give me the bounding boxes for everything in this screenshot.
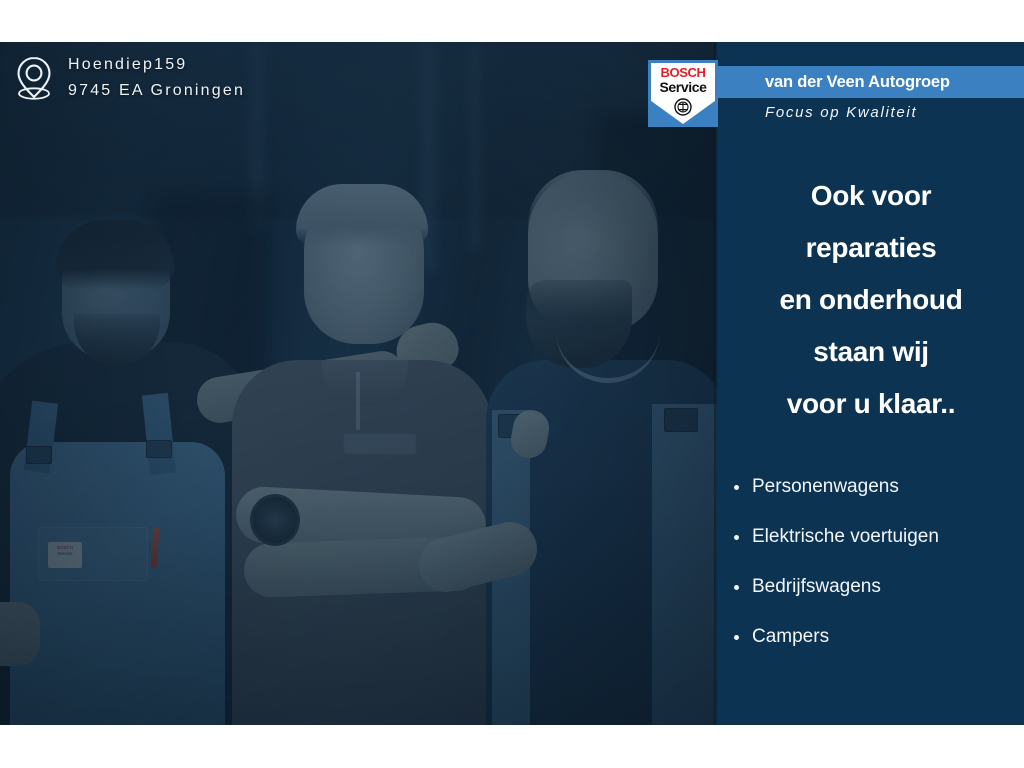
address-city: 9745 EA Groningen	[68, 78, 245, 104]
map-pin-icon	[14, 55, 54, 101]
company-name: van der Veen Autogroep	[765, 73, 950, 92]
headline-line-2: reparaties	[718, 222, 1024, 274]
logo-service-text: Service	[648, 79, 718, 95]
list-item: Personenwagens	[718, 462, 1024, 512]
photo-vignette	[0, 42, 718, 725]
headline: Ook voor reparaties en onderhoud staan w…	[718, 170, 1024, 430]
photo-panel-divider	[714, 42, 718, 725]
headline-line-1: Ook voor	[718, 170, 1024, 222]
list-item: Campers	[718, 612, 1024, 662]
bosch-service-logo: BOSCH Service	[648, 60, 718, 127]
brand-bar: van der Veen Autogroep	[718, 66, 1024, 98]
list-item: Bedrijfswagens	[718, 562, 1024, 612]
headline-line-3: en onderhoud	[718, 274, 1024, 326]
mechanics-photo: BOSCH Service	[0, 42, 718, 725]
promotional-banner: BOSCH Service	[0, 42, 1024, 725]
logo-bosch-text: BOSCH	[648, 65, 718, 80]
services-list: Personenwagens Elektrische voertuigen Be…	[718, 462, 1024, 662]
address-text: Hoendiep159 9745 EA Groningen	[68, 52, 245, 104]
address-block: Hoendiep159 9745 EA Groningen	[14, 52, 245, 104]
headline-line-5: voor u klaar..	[718, 378, 1024, 430]
info-panel: van der Veen Autogroep Focus op Kwalitei…	[718, 42, 1024, 725]
address-street: Hoendiep159	[68, 52, 245, 78]
headline-line-4: staan wij	[718, 326, 1024, 378]
tagline: Focus op Kwaliteit	[765, 104, 917, 121]
list-item: Elektrische voertuigen	[718, 512, 1024, 562]
bosch-armature-icon	[674, 98, 692, 116]
